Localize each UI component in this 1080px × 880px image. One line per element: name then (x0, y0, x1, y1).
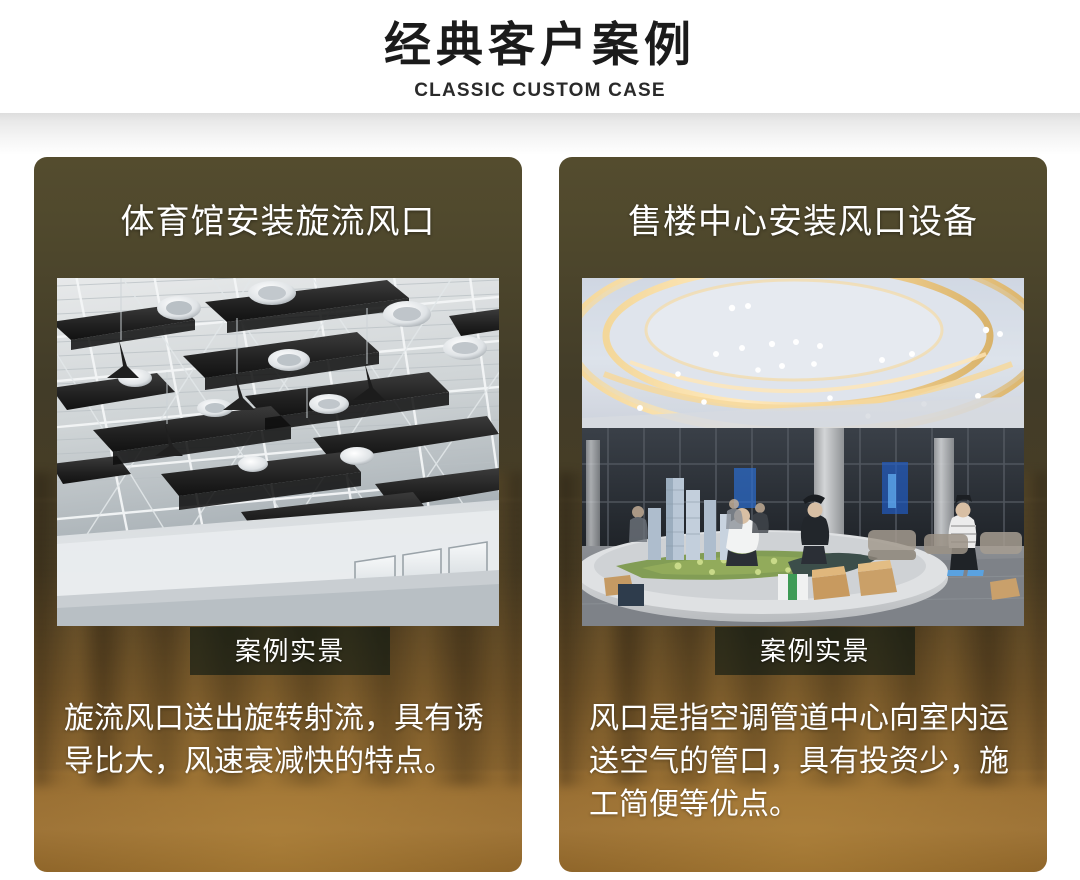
case-card-title: 体育馆安装旋流风口 (34, 201, 522, 243)
case-card-list: 体育馆安装旋流风口 (0, 157, 1080, 872)
case-card-gymnasium[interactable]: 体育馆安装旋流风口 (34, 157, 522, 872)
page-subtitle: CLASSIC CUSTOM CASE (0, 78, 1080, 104)
page-header: 经典客户案例 CLASSIC CUSTOM CASE (0, 0, 1080, 113)
page-title: 经典客户案例 (0, 14, 1080, 76)
case-card-description: 风口是指空调管道中心向室内运送空气的管口，具有投资少，施工简便等优点。 (589, 697, 1021, 826)
case-photo-caption: 案例实景 (190, 627, 390, 675)
case-card-description: 旋流风口送出旋转射流，具有诱导比大，风速衰减快的特点。 (64, 697, 496, 783)
case-photo-caption: 案例实景 (715, 627, 915, 675)
case-card-title: 售楼中心安装风口设备 (559, 201, 1047, 243)
case-photo-sales-center (582, 278, 1024, 626)
header-divider-band (0, 113, 1080, 155)
case-photo-gymnasium (57, 278, 499, 626)
case-card-sales-center[interactable]: 售楼中心安装风口设备 (559, 157, 1047, 872)
